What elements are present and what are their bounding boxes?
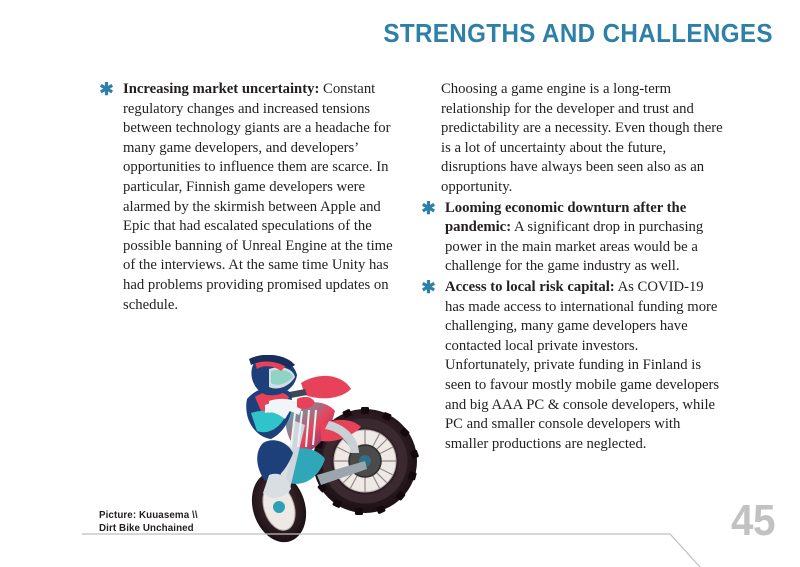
caption-line-2: Dirt Bike Unchained (99, 523, 198, 536)
asterisk-bullet-icon (98, 80, 115, 99)
bullet-body: Constant regulatory changes and increase… (123, 81, 393, 313)
caption-line-1: Picture: Kuuasema \\ (99, 510, 198, 523)
figure-caption: Picture: Kuuasema \\ Dirt Bike Unchained (99, 510, 198, 535)
bullet-item: Increasing market uncertainty: Constant … (98, 80, 406, 315)
bullet-lead: Increasing market uncertainty: (123, 81, 319, 97)
paragraph-continuation: Choosing a game engine is a long-term re… (420, 80, 725, 198)
left-column: Increasing market uncertainty: Constant … (98, 80, 406, 316)
right-column: Choosing a game engine is a long-term re… (420, 80, 725, 455)
asterisk-bullet-icon (420, 278, 437, 297)
paragraph-body: Choosing a game engine is a long-term re… (441, 81, 723, 195)
page-title: STRENGTHS AND CHALLENGES (383, 18, 773, 49)
bullet-lead: Access to local risk capital: (445, 279, 615, 295)
motocross-rider-photo (225, 355, 430, 550)
page-number: 45 (731, 499, 775, 543)
bullet-item: Access to local risk capital: As COVID-1… (420, 278, 725, 454)
bullet-item: Looming economic downturn after the pand… (420, 199, 725, 277)
bullet-body: As COVID-19 has made access to internati… (445, 279, 719, 452)
asterisk-bullet-icon (420, 199, 437, 218)
